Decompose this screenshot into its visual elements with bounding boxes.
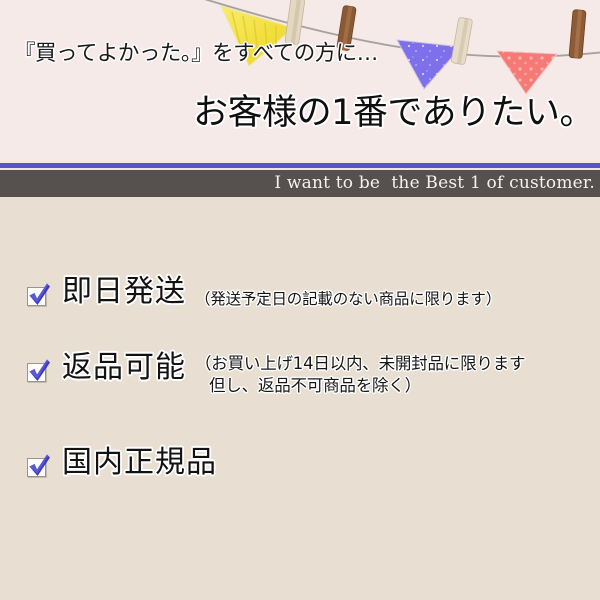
clothespin-1 xyxy=(285,0,305,45)
feature-note: （発送予定日の記載のない商品に限ります） xyxy=(195,289,501,309)
feature-list: 即日発送 （発送予定日の記載のない商品に限ります） 返品可能 （お買い上げ14日… xyxy=(0,197,600,600)
promo-banner-page: 『買ってよかった。』をすべての方に… お客様の1番でありたい。 I want t… xyxy=(0,0,600,600)
feature-title: 返品可能 xyxy=(62,352,186,384)
feature-item-returnable: 返品可能 （お買い上げ14日以内、未開封品に限ります 但し、返品不可商品を除く） xyxy=(26,352,525,397)
feature-title: 即日発送 xyxy=(62,276,186,308)
feature-title: 国内正規品 xyxy=(62,447,217,479)
feature-item-domestic-genuine: 国内正規品 xyxy=(26,447,217,479)
english-slogan: I want to be the Best 1 of customer. xyxy=(274,175,600,192)
checkbox-checked-icon xyxy=(26,359,51,384)
checkbox-checked-icon xyxy=(26,283,51,308)
clothespin-4 xyxy=(569,10,586,59)
feature-note: （お買い上げ14日以内、未開封品に限ります 但し、返品不可商品を除く） xyxy=(195,353,525,397)
feature-item-same-day-shipping: 即日発送 （発送予定日の記載のない商品に限ります） xyxy=(26,276,501,309)
clothespin-3 xyxy=(451,17,473,65)
hero-tagline: 『買ってよかった。』をすべての方に… xyxy=(14,42,378,66)
flag-red xyxy=(497,51,557,94)
english-slogan-bar: I want to be the Best 1 of customer. xyxy=(0,170,600,197)
hero-section: 『買ってよかった。』をすべての方に… お客様の1番でありたい。 xyxy=(0,0,600,163)
checkbox-checked-icon xyxy=(26,454,51,479)
flag-purple xyxy=(397,40,461,89)
hero-headline: お客様の1番でありたい。 xyxy=(193,94,594,133)
